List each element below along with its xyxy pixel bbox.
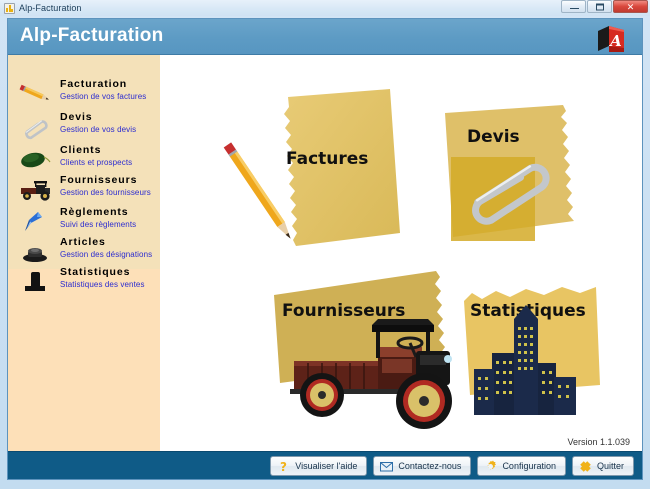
truck-wheel-rear (300, 373, 344, 417)
window-controls: ✕ (560, 0, 648, 13)
app-header: Alp-Facturation A (8, 19, 642, 55)
envelope-icon (380, 460, 393, 473)
truck-wheel-front (396, 373, 452, 429)
gear-icon (484, 460, 497, 473)
application-window: Alp-Facturation ✕ Alp-Facturation A (0, 0, 650, 489)
contact-button-label: Contactez-nous (398, 462, 461, 471)
skyline-icon (448, 277, 618, 422)
sidebar-item-subtitle: Gestion des fournisseurs (60, 188, 151, 197)
sidebar-item-clients[interactable]: Clients Clients et prospects (8, 145, 160, 175)
building-icon (17, 269, 53, 295)
app-logo: A (594, 20, 628, 54)
sidebar-item-subtitle: Clients et prospects (60, 158, 132, 167)
sidebar-item-title: Articles (60, 236, 106, 248)
stamp-icon (17, 239, 53, 265)
question-mark-icon: ? (277, 460, 290, 473)
card-fournisseurs[interactable]: Fournisseurs (260, 255, 470, 430)
svg-text:A: A (608, 32, 622, 50)
svg-text:?: ? (280, 460, 287, 473)
quit-button-label: Quitter (597, 462, 624, 471)
sidebar-item-subtitle: Gestion de vos devis (60, 125, 136, 134)
pushpin-icon (17, 209, 53, 235)
sidebar-menu: Facturation Gestion de vos factures (8, 55, 160, 269)
sidebar-item-subtitle: Suivi des règlements (60, 220, 136, 229)
help-button[interactable]: ? Visualiser l'aide (270, 456, 367, 476)
help-button-label: Visualiser l'aide (295, 462, 357, 471)
paperclip-icon (17, 114, 53, 140)
configuration-button-label: Configuration (502, 462, 556, 471)
chart-icon (4, 3, 15, 14)
close-x-icon (579, 460, 592, 473)
card-statistiques[interactable]: Statistiques (448, 277, 618, 422)
close-button[interactable]: ✕ (613, 0, 648, 13)
truck-illustration (290, 319, 452, 429)
card-devis[interactable]: Devis (425, 97, 590, 252)
sidebar-item-title: Règlements (60, 206, 129, 218)
contact-button[interactable]: Contactez-nous (373, 456, 471, 476)
maximize-button[interactable] (587, 0, 612, 13)
client-area: Alp-Facturation A (7, 18, 643, 480)
sidebar-item-title: Facturation (60, 78, 127, 90)
truck-icon (17, 177, 53, 203)
sidebar-item-title: Statistiques (60, 266, 130, 278)
version-label: Version 1.1.039 (567, 437, 630, 447)
sidebar-item-statistiques[interactable]: Statistiques Statistiques des ventes (8, 267, 160, 297)
sidebar-item-reglements[interactable]: Règlements Suivi des règlements (8, 207, 160, 237)
sidebar-item-subtitle: Gestion de vos factures (60, 92, 146, 101)
sidebar-item-articles[interactable]: Articles Gestion des désignations (8, 237, 160, 267)
window-title: Alp-Facturation (19, 3, 82, 13)
sidebar: Facturation Gestion de vos factures (8, 55, 160, 479)
page-title: Alp-Facturation (20, 25, 163, 47)
sidebar-item-facturation[interactable]: Facturation Gestion de vos factures (8, 79, 160, 109)
card-factures[interactable]: Factures (250, 83, 420, 253)
sidebar-item-subtitle: Gestion des désignations (60, 250, 152, 259)
sidebar-item-subtitle: Statistiques des ventes (60, 280, 145, 289)
sidebar-item-title: Devis (60, 111, 93, 123)
bottom-toolbar: ? Visualiser l'aide Contactez-nous (8, 451, 642, 479)
sidebar-item-fournisseurs[interactable]: Fournisseurs Gestion des fournisseurs (8, 175, 160, 205)
leaf-icon (17, 147, 53, 173)
quit-button[interactable]: Quitter (572, 456, 634, 476)
main-stage: Factures Dev (160, 55, 642, 479)
sidebar-item-title: Clients (60, 144, 101, 156)
title-bar: Alp-Facturation ✕ (0, 0, 650, 16)
minimize-button[interactable] (561, 0, 586, 13)
sidebar-item-devis[interactable]: Devis Gestion de vos devis (8, 112, 160, 142)
sidebar-item-title: Fournisseurs (60, 174, 137, 186)
configuration-button[interactable]: Configuration (477, 456, 566, 476)
pencil-icon (17, 81, 53, 107)
